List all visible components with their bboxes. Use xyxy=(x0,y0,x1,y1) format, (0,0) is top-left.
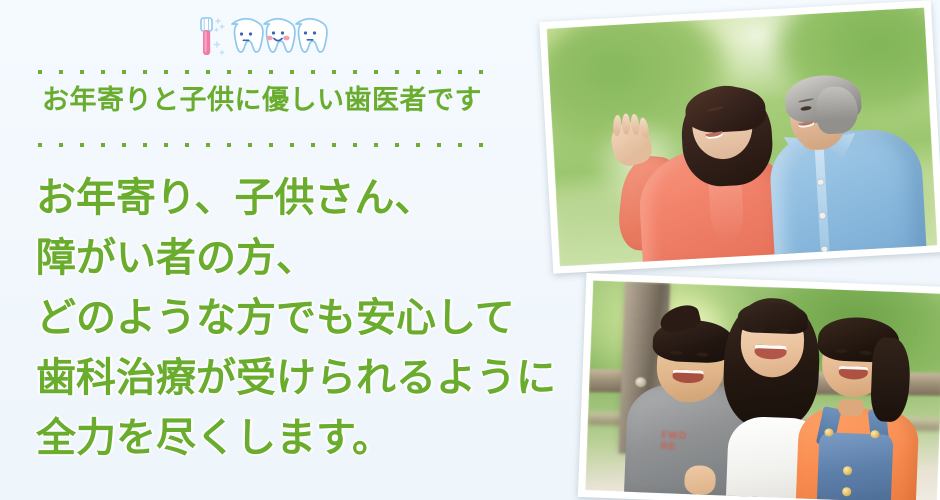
dotted-divider-top xyxy=(38,70,493,74)
text-column: お年寄りと子供に優しい歯医者です お年寄り、子供さん、 障がい者の方、 どのよう… xyxy=(0,0,520,500)
children-scene: FWDRE xyxy=(585,280,940,500)
seniors-photo xyxy=(539,0,940,273)
dotted-divider-bottom xyxy=(38,143,493,147)
page-subtitle: お年寄りと子供に優しい歯医者です xyxy=(42,87,502,114)
page-headline: お年寄り、子供さん、 障がい者の方、 どのような方でも安心して 歯科治療が受けら… xyxy=(36,168,516,468)
headline-line-4: 歯科治療が受けられるように xyxy=(36,348,516,408)
headline-line-2: 障がい者の方、 xyxy=(36,228,516,288)
headline-line-5: 全力を尽くします。 xyxy=(36,408,516,468)
seniors-photo-frame xyxy=(547,8,938,267)
toothbrush-and-teeth-icon xyxy=(192,12,332,62)
headline-line-3: どのような方でも安心して xyxy=(36,288,516,348)
children-photo: FWDRE xyxy=(578,273,940,500)
headline-line-1: お年寄り、子供さん、 xyxy=(36,168,516,228)
children-photo-frame: FWDRE xyxy=(585,280,940,500)
seniors-scene xyxy=(547,8,938,267)
